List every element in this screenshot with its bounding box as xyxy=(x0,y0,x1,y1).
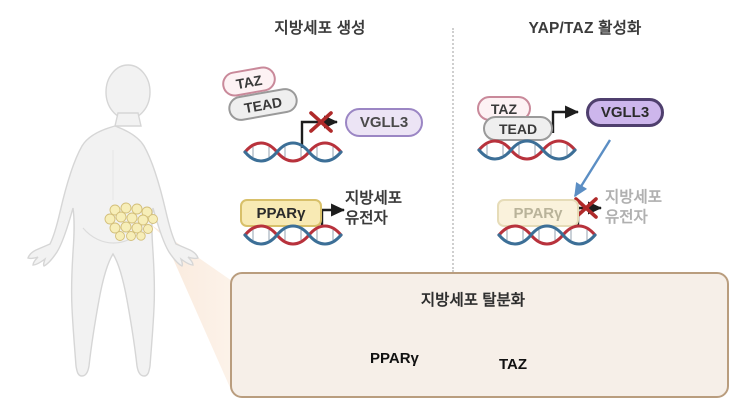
right-vgll3-transcription-arrow xyxy=(553,112,578,133)
panel-title-right: YAP/TAZ 활성화 xyxy=(470,16,700,38)
left-block-x-icon xyxy=(311,113,331,131)
left-vgll3-pill[interactable]: VGLL3 xyxy=(345,108,423,137)
right-dna-helix-lower xyxy=(497,222,607,248)
right-block-x-icon xyxy=(576,199,596,217)
left-dna-helix-lower xyxy=(243,222,353,248)
left-gene-label: 지방세포 유전자 xyxy=(345,189,402,230)
right-vgll3-pill[interactable]: VGLL3 xyxy=(586,98,664,127)
dedifferentiation-caption: 지방세포 탈분화 xyxy=(383,288,563,310)
body-hip-line xyxy=(83,228,144,243)
panel-title-left: 지방세포 생성 xyxy=(205,16,435,38)
callout-cone xyxy=(150,224,232,392)
abdominal-fat-cluster xyxy=(105,203,158,241)
pparg-gradient-label: PPARγ xyxy=(370,350,419,367)
diagram-canvas: 지방세포 생성 YAP/TAZ 활성화 TAZ TEAD VGLL3 PPARγ… xyxy=(0,0,745,418)
taz-gradient-label: TAZ xyxy=(499,356,527,373)
left-dna-helix-upper xyxy=(243,139,353,165)
right-gene-label: 지방세포 유전자 xyxy=(605,188,662,229)
human-body-silhouette xyxy=(28,65,198,376)
panel-divider xyxy=(452,28,454,272)
right-dna-helix-upper xyxy=(477,137,587,163)
